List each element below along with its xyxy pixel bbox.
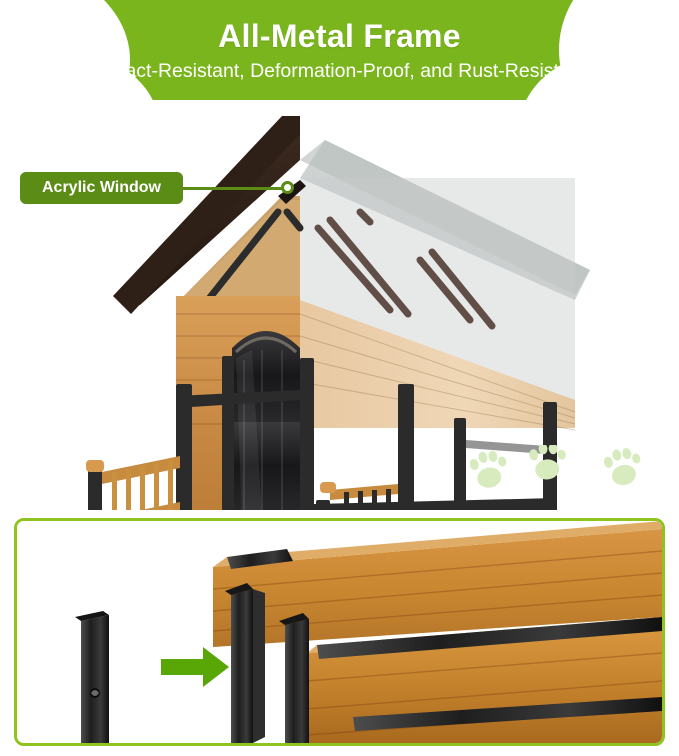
paw-print-decorations: [465, 445, 665, 505]
header-banner: All-Metal Frame Impact-Resistant, Deform…: [0, 0, 679, 100]
callout-acrylic-window: Acrylic Window: [20, 172, 183, 204]
deck-railing-left: [0, 100, 180, 510]
main-product-image: Acrylic Window: [0, 100, 679, 510]
product-infographic: All-Metal Frame Impact-Resistant, Deform…: [0, 0, 679, 756]
page-title: All-Metal Frame: [0, 18, 679, 55]
page-subtitle: Impact-Resistant, Deformation-Proof, and…: [0, 60, 679, 83]
acrylic-window-marker-dot: [281, 181, 294, 194]
callout-label: Acrylic Window: [20, 179, 183, 197]
detail-panel: [14, 518, 665, 746]
frame-assembly-illustration: [17, 521, 662, 743]
metal-post-inserted: [225, 583, 265, 743]
callout-pointer-line: [183, 187, 287, 190]
